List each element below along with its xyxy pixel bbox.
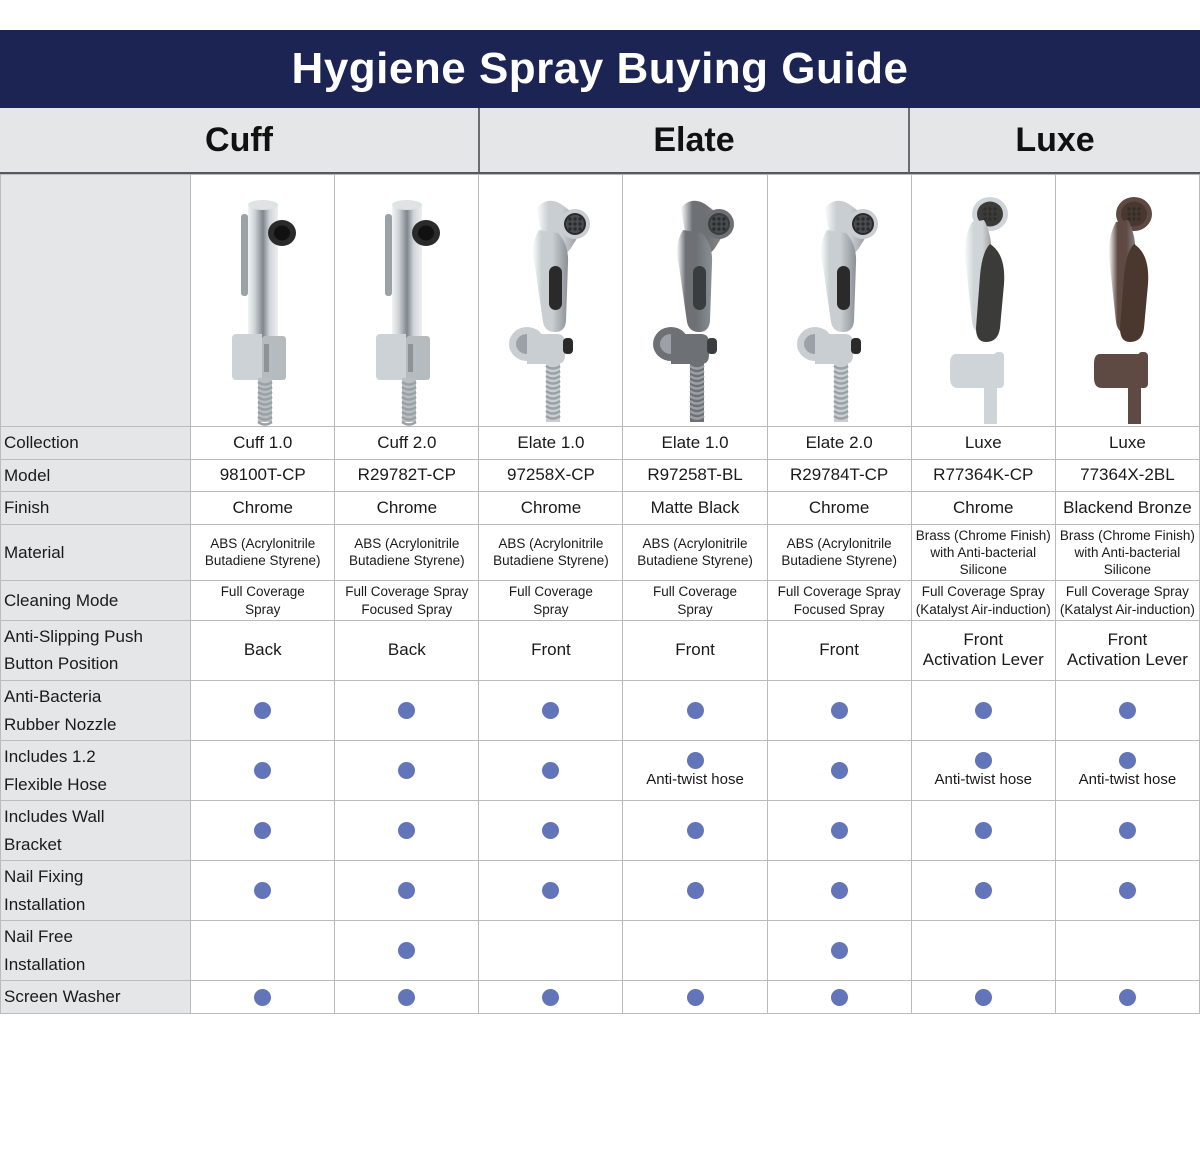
brand-header-cuff: Cuff bbox=[0, 108, 478, 172]
cell-value: Cuff 1.0 bbox=[191, 427, 335, 460]
cell-value: 98100T-CP bbox=[191, 459, 335, 492]
feature-marker-stack bbox=[1059, 882, 1196, 899]
row-label: Nail Fixing Installation bbox=[1, 861, 191, 921]
table-row: Nail Fixing Installation bbox=[1, 861, 1200, 921]
cell-value: Matte Black bbox=[623, 492, 767, 525]
feature-dot-icon bbox=[398, 762, 415, 779]
feature-marker-stack bbox=[1059, 989, 1196, 1006]
product-image-cell-luxe-blackend-bronze-spray bbox=[1055, 175, 1199, 427]
row-label: Includes Wall Bracket bbox=[1, 801, 191, 861]
cell-feature bbox=[335, 680, 479, 740]
cell-value: Blackend Bronze bbox=[1055, 492, 1199, 525]
cell-value: Front bbox=[623, 620, 767, 680]
product-photo-cuff-2-chrome-spray bbox=[335, 175, 478, 426]
table-row: FinishChromeChromeChromeMatte BlackChrom… bbox=[1, 492, 1200, 525]
cell-value: Cuff 2.0 bbox=[335, 427, 479, 460]
brand-header-row: Cuff Elate Luxe bbox=[0, 108, 1200, 174]
cell-value: Full Coverage Spray Focused Spray bbox=[767, 581, 911, 621]
feature-marker-stack bbox=[771, 942, 908, 959]
product-image-cell-cuff-1-chrome-spray bbox=[191, 175, 335, 427]
feature-dot-icon bbox=[542, 989, 559, 1006]
page-title: Hygiene Spray Buying Guide bbox=[292, 47, 909, 91]
table-row: MaterialABS (Acrylonitrile Butadiene Sty… bbox=[1, 524, 1200, 581]
brand-header-elate: Elate bbox=[478, 108, 908, 172]
cell-feature bbox=[191, 981, 335, 1014]
cell-feature bbox=[479, 981, 623, 1014]
product-photo-elate-2-chrome-spray bbox=[768, 175, 911, 426]
feature-marker-stack bbox=[626, 989, 763, 1006]
cell-feature: Anti-twist hose bbox=[1055, 741, 1199, 801]
feature-marker-stack bbox=[194, 882, 331, 899]
cell-value: Front bbox=[479, 620, 623, 680]
product-illustration bbox=[491, 186, 611, 426]
feature-caption: Anti-twist hose bbox=[1079, 771, 1177, 788]
cell-value: R97258T-BL bbox=[623, 459, 767, 492]
product-photo-luxe-chrome-spray bbox=[912, 175, 1055, 426]
cell-feature bbox=[911, 861, 1055, 921]
product-image-cell-elate-1-matte-black-spray bbox=[623, 175, 767, 427]
row-label: Includes 1.2 Flexible Hose bbox=[1, 741, 191, 801]
cell-feature bbox=[911, 921, 1055, 981]
cell-feature: Anti-twist hose bbox=[911, 741, 1055, 801]
cell-value: Full Coverage Spray bbox=[191, 581, 335, 621]
cell-value: 97258X-CP bbox=[479, 459, 623, 492]
cell-feature bbox=[623, 801, 767, 861]
feature-marker-stack bbox=[771, 822, 908, 839]
feature-marker-stack bbox=[482, 702, 619, 719]
feature-dot-icon bbox=[831, 989, 848, 1006]
cell-feature bbox=[335, 921, 479, 981]
cell-value: Luxe bbox=[911, 427, 1055, 460]
cell-value: Back bbox=[191, 620, 335, 680]
feature-marker-stack bbox=[771, 762, 908, 779]
cell-feature bbox=[191, 921, 335, 981]
cell-value: Front Activation Lever bbox=[1055, 620, 1199, 680]
feature-marker-stack bbox=[626, 822, 763, 839]
feature-marker-stack bbox=[338, 822, 475, 839]
cell-value: ABS (Acrylonitrile Butadiene Styrene) bbox=[335, 524, 479, 581]
feature-dot-icon bbox=[831, 882, 848, 899]
brand-label-luxe: Luxe bbox=[1015, 123, 1094, 157]
feature-marker-stack: Anti-twist hose bbox=[1059, 752, 1196, 788]
feature-dot-icon bbox=[831, 762, 848, 779]
cell-feature bbox=[767, 861, 911, 921]
cell-value: Elate 2.0 bbox=[767, 427, 911, 460]
feature-marker-stack bbox=[194, 822, 331, 839]
cell-feature bbox=[623, 680, 767, 740]
brand-label-elate: Elate bbox=[653, 123, 734, 157]
cell-feature bbox=[767, 981, 911, 1014]
feature-dot-icon bbox=[1119, 989, 1136, 1006]
product-photo-elate-1-matte-black-spray bbox=[623, 175, 766, 426]
product-image-row bbox=[1, 175, 1200, 427]
row-label: Material bbox=[1, 524, 191, 581]
cell-value: Full Coverage Spray Focused Spray bbox=[335, 581, 479, 621]
cell-value: Luxe bbox=[1055, 427, 1199, 460]
cell-value: Brass (Chrome Finish) with Anti-bacteria… bbox=[911, 524, 1055, 581]
comparison-table: CollectionCuff 1.0Cuff 2.0Elate 1.0Elate… bbox=[0, 174, 1200, 1014]
product-illustration bbox=[635, 186, 755, 426]
cell-feature bbox=[191, 801, 335, 861]
feature-marker-stack bbox=[194, 702, 331, 719]
cell-value: Back bbox=[335, 620, 479, 680]
cell-feature bbox=[1055, 801, 1199, 861]
product-photo-cuff-1-chrome-spray bbox=[191, 175, 334, 426]
feature-dot-icon bbox=[398, 942, 415, 959]
feature-marker-stack bbox=[338, 762, 475, 779]
feature-marker-stack bbox=[1059, 822, 1196, 839]
feature-marker-stack bbox=[771, 989, 908, 1006]
cell-value: Chrome bbox=[911, 492, 1055, 525]
row-label: Anti-Bacteria Rubber Nozzle bbox=[1, 680, 191, 740]
feature-marker-stack bbox=[338, 702, 475, 719]
product-image-row-label bbox=[1, 175, 191, 427]
feature-marker-stack bbox=[194, 989, 331, 1006]
cell-feature bbox=[1055, 921, 1199, 981]
feature-marker-stack bbox=[482, 989, 619, 1006]
feature-marker-stack bbox=[338, 942, 475, 959]
title-banner: Hygiene Spray Buying Guide bbox=[0, 30, 1200, 108]
cell-feature bbox=[911, 680, 1055, 740]
cell-value: R77364K-CP bbox=[911, 459, 1055, 492]
cell-value: 77364X-2BL bbox=[1055, 459, 1199, 492]
feature-dot-icon bbox=[687, 822, 704, 839]
cell-feature bbox=[767, 741, 911, 801]
table-row: Nail Free Installation bbox=[1, 921, 1200, 981]
feature-marker-stack bbox=[915, 822, 1052, 839]
feature-dot-icon bbox=[831, 702, 848, 719]
table-row: Includes 1.2 Flexible HoseAnti-twist hos… bbox=[1, 741, 1200, 801]
feature-dot-icon bbox=[398, 882, 415, 899]
feature-dot-icon bbox=[687, 882, 704, 899]
row-label: Finish bbox=[1, 492, 191, 525]
row-label: Model bbox=[1, 459, 191, 492]
cell-feature bbox=[191, 680, 335, 740]
feature-marker-stack bbox=[771, 702, 908, 719]
feature-marker-stack bbox=[1059, 702, 1196, 719]
cell-value: ABS (Acrylonitrile Butadiene Styrene) bbox=[191, 524, 335, 581]
cell-feature bbox=[1055, 861, 1199, 921]
feature-dot-icon bbox=[542, 702, 559, 719]
cell-feature bbox=[911, 981, 1055, 1014]
feature-caption: Anti-twist hose bbox=[646, 771, 744, 788]
feature-dot-icon bbox=[687, 989, 704, 1006]
feature-marker-stack bbox=[915, 702, 1052, 719]
cell-feature bbox=[767, 680, 911, 740]
brand-header-luxe: Luxe bbox=[908, 108, 1200, 172]
cell-value: Elate 1.0 bbox=[623, 427, 767, 460]
table-row: Includes Wall Bracket bbox=[1, 801, 1200, 861]
product-illustration bbox=[779, 186, 899, 426]
feature-dot-icon bbox=[398, 822, 415, 839]
product-photo-elate-1-chrome-spray bbox=[479, 175, 622, 426]
cell-feature bbox=[479, 680, 623, 740]
feature-dot-icon bbox=[831, 822, 848, 839]
cell-feature bbox=[335, 861, 479, 921]
feature-marker-stack bbox=[915, 882, 1052, 899]
cell-feature bbox=[623, 981, 767, 1014]
feature-marker-stack bbox=[771, 882, 908, 899]
product-illustration bbox=[208, 186, 318, 426]
cell-feature bbox=[623, 921, 767, 981]
feature-dot-icon bbox=[398, 702, 415, 719]
cell-feature bbox=[191, 861, 335, 921]
cell-value: Chrome bbox=[335, 492, 479, 525]
table-row: Screen Washer bbox=[1, 981, 1200, 1014]
cell-value: Elate 1.0 bbox=[479, 427, 623, 460]
cell-feature bbox=[479, 861, 623, 921]
cell-feature bbox=[479, 801, 623, 861]
feature-marker-stack: Anti-twist hose bbox=[626, 752, 763, 788]
feature-marker-stack bbox=[915, 989, 1052, 1006]
feature-dot-icon bbox=[254, 762, 271, 779]
cell-value: Chrome bbox=[767, 492, 911, 525]
cell-feature bbox=[191, 741, 335, 801]
product-image-cell-elate-1-chrome-spray bbox=[479, 175, 623, 427]
feature-marker-stack bbox=[482, 762, 619, 779]
cell-value: R29782T-CP bbox=[335, 459, 479, 492]
feature-dot-icon bbox=[975, 702, 992, 719]
feature-marker-stack bbox=[482, 822, 619, 839]
table-row: Model98100T-CPR29782T-CP97258X-CPR97258T… bbox=[1, 459, 1200, 492]
product-image-cell-luxe-chrome-spray bbox=[911, 175, 1055, 427]
feature-marker-stack bbox=[626, 702, 763, 719]
cell-value: ABS (Acrylonitrile Butadiene Styrene) bbox=[623, 524, 767, 581]
feature-dot-icon bbox=[1119, 882, 1136, 899]
feature-dot-icon bbox=[254, 882, 271, 899]
feature-marker-stack: Anti-twist hose bbox=[915, 752, 1052, 788]
product-image-cell-cuff-2-chrome-spray bbox=[335, 175, 479, 427]
feature-dot-icon bbox=[254, 822, 271, 839]
table-row: Anti-Bacteria Rubber Nozzle bbox=[1, 680, 1200, 740]
cell-feature bbox=[1055, 981, 1199, 1014]
cell-value: Full Coverage Spray (Katalyst Air-induct… bbox=[911, 581, 1055, 621]
cell-value: Front bbox=[767, 620, 911, 680]
row-label: Screen Washer bbox=[1, 981, 191, 1014]
feature-dot-icon bbox=[1119, 702, 1136, 719]
product-illustration bbox=[928, 186, 1038, 426]
feature-dot-icon bbox=[542, 762, 559, 779]
cell-feature bbox=[767, 921, 911, 981]
feature-dot-icon bbox=[398, 989, 415, 1006]
table-row: Anti-Slipping Push Button PositionBackBa… bbox=[1, 620, 1200, 680]
row-label: Collection bbox=[1, 427, 191, 460]
table-row: Cleaning ModeFull Coverage SprayFull Cov… bbox=[1, 581, 1200, 621]
row-label: Anti-Slipping Push Button Position bbox=[1, 620, 191, 680]
feature-dot-icon bbox=[975, 989, 992, 1006]
row-label: Nail Free Installation bbox=[1, 921, 191, 981]
feature-dot-icon bbox=[542, 882, 559, 899]
feature-dot-icon bbox=[975, 882, 992, 899]
feature-dot-icon bbox=[975, 822, 992, 839]
feature-marker-stack bbox=[194, 762, 331, 779]
feature-dot-icon bbox=[1119, 822, 1136, 839]
cell-feature bbox=[1055, 680, 1199, 740]
cell-value: Brass (Chrome Finish) with Anti-bacteria… bbox=[1055, 524, 1199, 581]
buying-guide-page: Hygiene Spray Buying Guide Cuff Elate Lu… bbox=[0, 0, 1200, 1165]
table-row: CollectionCuff 1.0Cuff 2.0Elate 1.0Elate… bbox=[1, 427, 1200, 460]
cell-value: Full Coverage Spray bbox=[623, 581, 767, 621]
feature-dot-icon bbox=[254, 989, 271, 1006]
product-photo-luxe-blackend-bronze-spray bbox=[1056, 175, 1199, 426]
cell-feature bbox=[767, 801, 911, 861]
cell-feature bbox=[623, 861, 767, 921]
brand-label-cuff: Cuff bbox=[205, 123, 273, 157]
feature-dot-icon bbox=[831, 942, 848, 959]
cell-feature bbox=[335, 981, 479, 1014]
cell-value: Full Coverage Spray bbox=[479, 581, 623, 621]
cell-feature bbox=[911, 801, 1055, 861]
product-image-cell-elate-2-chrome-spray bbox=[767, 175, 911, 427]
feature-dot-icon bbox=[975, 752, 992, 769]
cell-feature bbox=[335, 801, 479, 861]
cell-value: Chrome bbox=[479, 492, 623, 525]
cell-feature bbox=[479, 741, 623, 801]
cell-value: Full Coverage Spray (Katalyst Air-induct… bbox=[1055, 581, 1199, 621]
cell-value: R29784T-CP bbox=[767, 459, 911, 492]
feature-dot-icon bbox=[687, 752, 704, 769]
product-illustration bbox=[352, 186, 462, 426]
feature-caption: Anti-twist hose bbox=[934, 771, 1032, 788]
feature-marker-stack bbox=[626, 882, 763, 899]
product-illustration bbox=[1072, 186, 1182, 426]
cell-feature bbox=[479, 921, 623, 981]
cell-feature: Anti-twist hose bbox=[623, 741, 767, 801]
feature-dot-icon bbox=[1119, 752, 1136, 769]
cell-value: Front Activation Lever bbox=[911, 620, 1055, 680]
cell-value: Chrome bbox=[191, 492, 335, 525]
feature-dot-icon bbox=[542, 822, 559, 839]
feature-marker-stack bbox=[338, 882, 475, 899]
feature-dot-icon bbox=[254, 702, 271, 719]
feature-marker-stack bbox=[338, 989, 475, 1006]
feature-dot-icon bbox=[687, 702, 704, 719]
cell-value: ABS (Acrylonitrile Butadiene Styrene) bbox=[479, 524, 623, 581]
cell-value: ABS (Acrylonitrile Butadiene Styrene) bbox=[767, 524, 911, 581]
feature-marker-stack bbox=[482, 882, 619, 899]
row-label: Cleaning Mode bbox=[1, 581, 191, 621]
cell-feature bbox=[335, 741, 479, 801]
